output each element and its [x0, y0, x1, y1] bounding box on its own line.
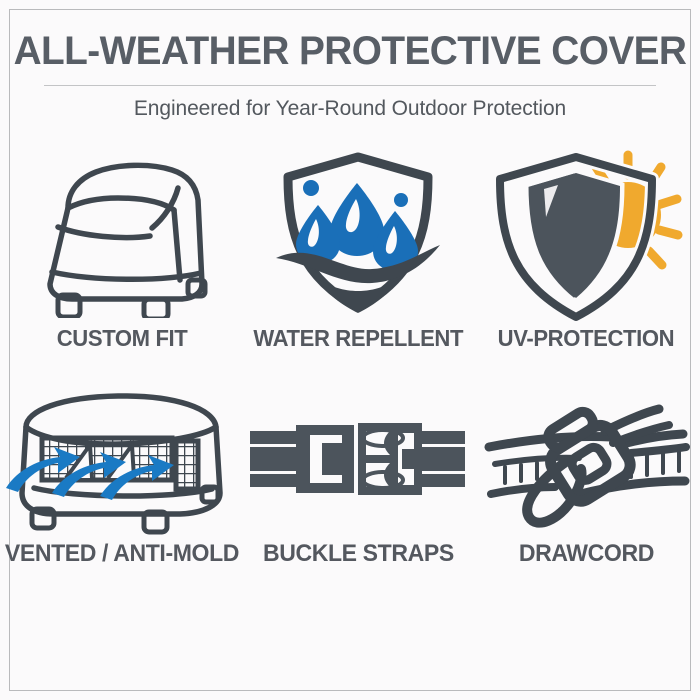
- feature-label-custom-fit: CUSTOM FIT: [57, 325, 188, 352]
- poster-header: ALL-WEATHER PROTECTIVE COVER Engineered …: [0, 30, 700, 121]
- feature-label-buckle-straps: BUCKLE STRAPS: [262, 540, 453, 568]
- feature-label-vented-anti-mold: VENTED / ANTI-MOLD: [5, 540, 239, 568]
- feature-vented-anti-mold: VENTED / ANTI-MOLD: [0, 380, 244, 625]
- side-release-buckle-icon: [250, 380, 465, 540]
- vented-cover-airflow-icon: [4, 380, 239, 540]
- feature-label-water-repellent: WATER REPELLENT: [253, 325, 463, 352]
- shield-sun-icon: [486, 140, 686, 325]
- feature-uv-protection: UV-PROTECTION: [472, 140, 700, 380]
- feature-water-repellent: WATER REPELLENT: [244, 140, 472, 380]
- covered-armchair-icon: [22, 140, 222, 325]
- feature-label-uv-protection: UV-PROTECTION: [498, 325, 675, 352]
- title-divider: [44, 85, 656, 86]
- feature-label-drawcord: DRAWCORD: [518, 540, 653, 568]
- feature-custom-fit: CUSTOM FIT: [0, 140, 244, 380]
- shield-water-drops-icon: [268, 140, 448, 325]
- page-subtitle: Engineered for Year-Round Outdoor Protec…: [0, 97, 700, 121]
- feature-buckle-straps: BUCKLE STRAPS: [244, 380, 472, 625]
- feature-drawcord: DRAWCORD: [472, 380, 700, 625]
- cord-lock-toggle-icon: [481, 380, 691, 540]
- feature-grid: CUSTOM FIT: [0, 140, 700, 625]
- infographic-poster: ALL-WEATHER PROTECTIVE COVER Engineered …: [0, 0, 700, 700]
- page-title: ALL-WEATHER PROTECTIVE COVER: [11, 30, 690, 72]
